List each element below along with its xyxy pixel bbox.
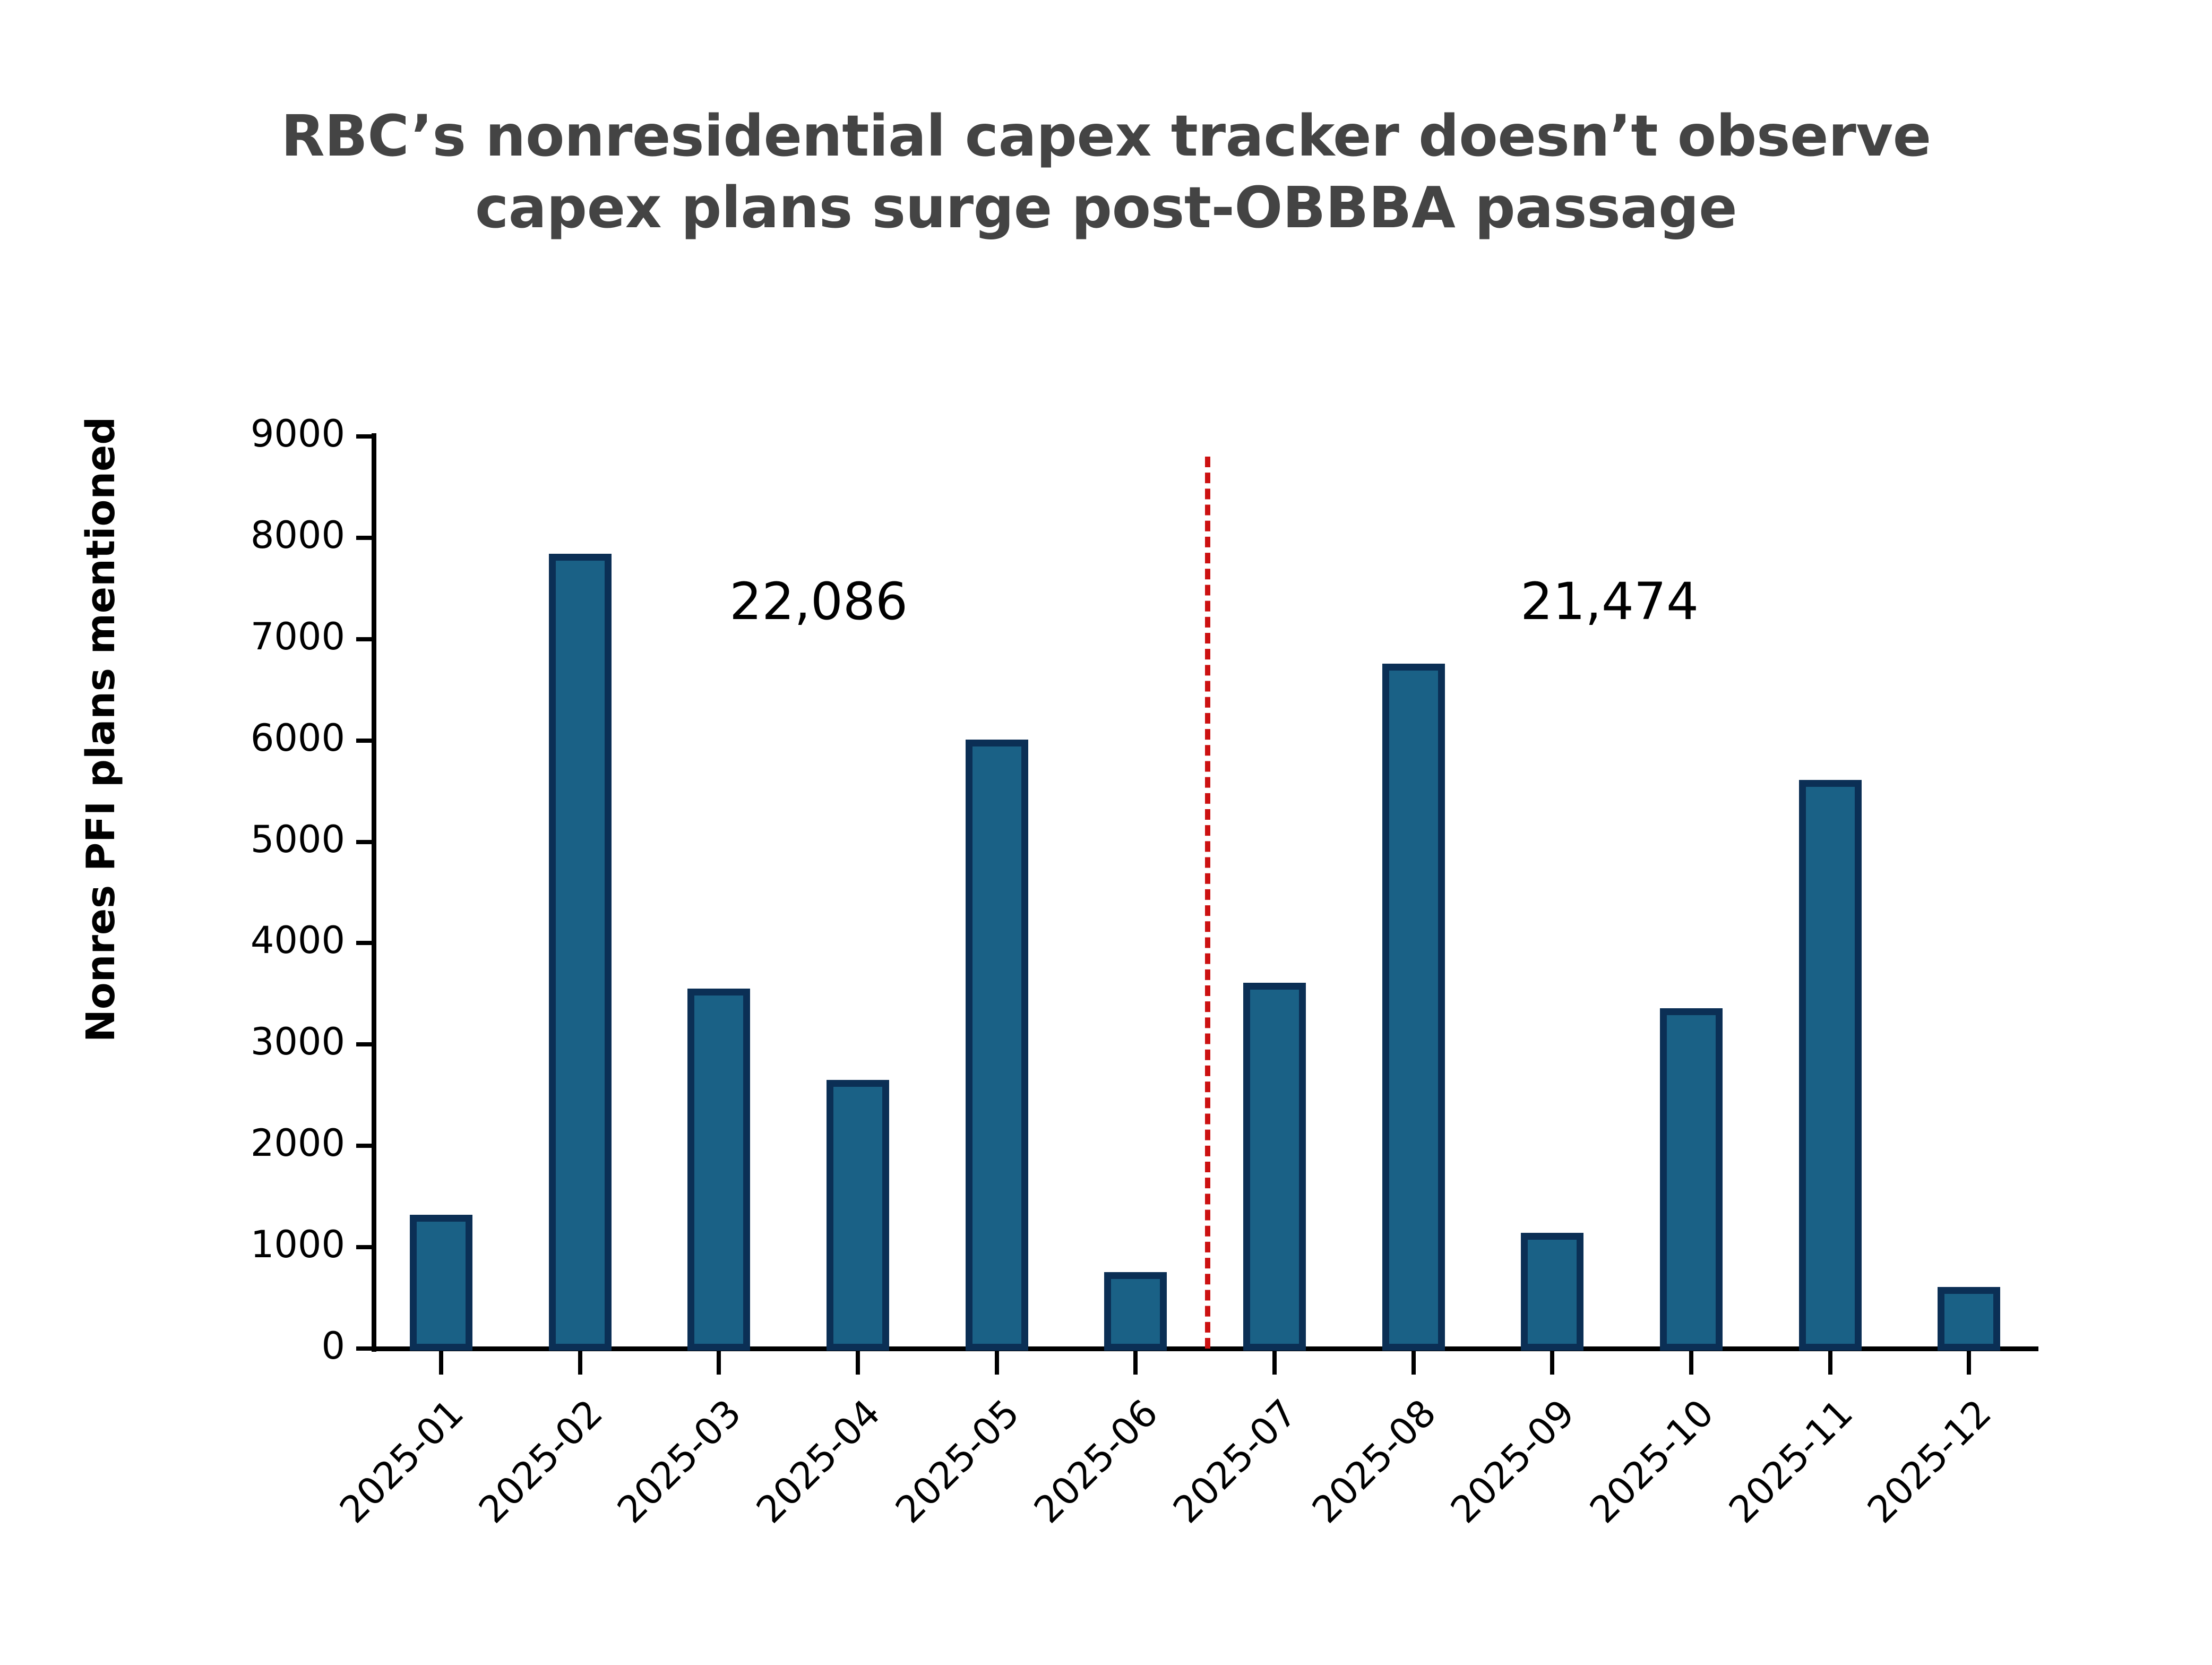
bar-2025-06[interactable] bbox=[1104, 1272, 1167, 1351]
x-axis-tick bbox=[578, 1351, 582, 1375]
bar-2025-02[interactable] bbox=[549, 554, 612, 1351]
bar-2025-05[interactable] bbox=[966, 740, 1028, 1351]
y-axis-tick-label: 4000 bbox=[175, 919, 345, 962]
bar-2025-09[interactable] bbox=[1521, 1233, 1583, 1351]
y-axis-tick-label: 8000 bbox=[175, 513, 345, 557]
y-axis-tick bbox=[356, 434, 372, 439]
bar-2025-01[interactable] bbox=[410, 1215, 472, 1351]
x-axis-tick bbox=[995, 1351, 999, 1375]
y-axis-tick-label: 2000 bbox=[175, 1121, 345, 1165]
right-period-sum-label: 21,474 bbox=[1520, 572, 1699, 631]
x-axis-tick bbox=[856, 1351, 860, 1375]
bar-2025-04[interactable] bbox=[827, 1080, 889, 1351]
bar-2025-03[interactable] bbox=[687, 989, 750, 1351]
y-axis-tick bbox=[356, 637, 372, 641]
y-axis-tick-label: 0 bbox=[175, 1324, 345, 1368]
x-axis-tick bbox=[717, 1351, 721, 1375]
y-axis-tick bbox=[356, 536, 372, 540]
y-axis-tick-label: 3000 bbox=[175, 1020, 345, 1063]
x-axis-tick bbox=[439, 1351, 443, 1375]
y-axis-tick-label: 7000 bbox=[175, 615, 345, 658]
y-axis-tick-label: 6000 bbox=[175, 716, 345, 760]
plot-area: Nonres PFI plans mentioned 0100020003000… bbox=[0, 0, 2212, 1665]
bar-2025-12[interactable] bbox=[1938, 1287, 2000, 1351]
y-axis-tick bbox=[356, 1245, 372, 1249]
x-axis-tick bbox=[1828, 1351, 1832, 1375]
y-axis-tick bbox=[356, 840, 372, 844]
x-axis-tick bbox=[1411, 1351, 1416, 1375]
left-period-sum-label: 22,086 bbox=[729, 572, 908, 631]
x-axis-tick bbox=[1133, 1351, 1138, 1375]
y-axis-tick-label: 9000 bbox=[175, 412, 345, 456]
bar-2025-10[interactable] bbox=[1660, 1008, 1723, 1351]
bar-2025-07[interactable] bbox=[1243, 983, 1306, 1351]
y-axis-tick bbox=[356, 1144, 372, 1148]
y-axis-tick-label: 5000 bbox=[175, 818, 345, 861]
chart-figure: RBC’s nonresidential capex tracker doesn… bbox=[0, 0, 2212, 1665]
x-axis-tick bbox=[1550, 1351, 1554, 1375]
y-axis-tick bbox=[356, 941, 372, 945]
y-axis-tick bbox=[356, 1346, 372, 1351]
bar-2025-11[interactable] bbox=[1799, 780, 1862, 1351]
y-axis-line bbox=[372, 433, 376, 1352]
x-axis-tick bbox=[1689, 1351, 1693, 1375]
bar-2025-08[interactable] bbox=[1382, 664, 1445, 1351]
y-axis-title: Nonres PFI plans mentioned bbox=[78, 458, 124, 1042]
y-axis-tick bbox=[356, 739, 372, 743]
x-axis-tick bbox=[1967, 1351, 1971, 1375]
x-axis-tick bbox=[1272, 1351, 1277, 1375]
y-axis-tick-label: 1000 bbox=[175, 1223, 345, 1266]
obbba-divider-line bbox=[1205, 457, 1210, 1349]
y-axis-tick bbox=[356, 1042, 372, 1046]
